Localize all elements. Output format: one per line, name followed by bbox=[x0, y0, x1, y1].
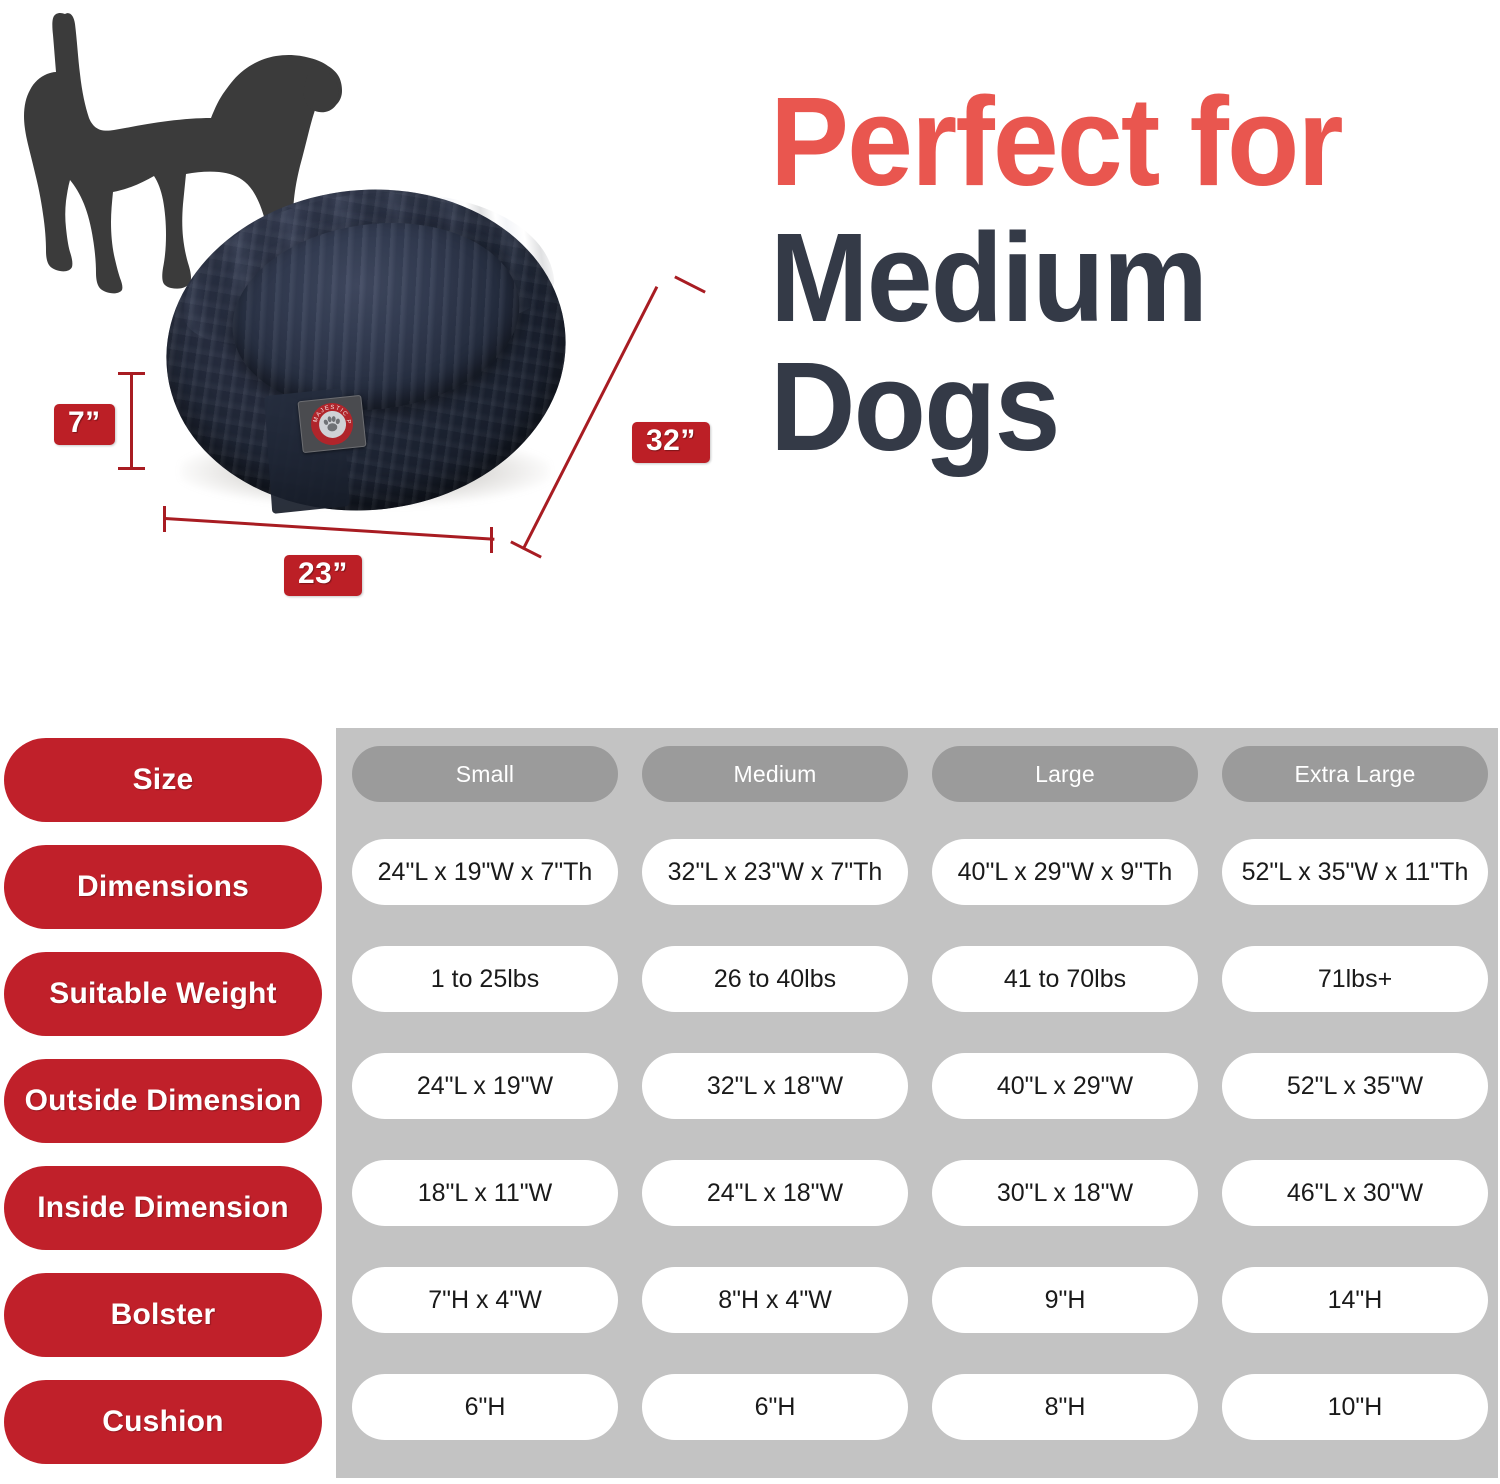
cell-dimensions-medium: 32"L x 23"W x 7"Th bbox=[642, 839, 908, 905]
cell-dimensions-small: 24"L x 19"W x 7"Th bbox=[352, 839, 618, 905]
cell-dimensions-large: 40"L x 29"W x 9"Th bbox=[932, 839, 1198, 905]
row-label-outside-dimension: Outside Dimension bbox=[4, 1059, 322, 1143]
cell-inside-dimension-extra-large: 46"L x 30"W bbox=[1222, 1160, 1488, 1226]
row-label-inside-dimension: Inside Dimension bbox=[4, 1166, 322, 1250]
product-photo-dog-bed: MAJESTIC PET bbox=[160, 180, 570, 535]
column-header-small: Small bbox=[352, 746, 618, 802]
cell-inside-dimension-medium: 24"L x 18"W bbox=[642, 1160, 908, 1226]
cell-bolster-extra-large: 14"H bbox=[1222, 1267, 1488, 1333]
cell-suitable-weight-large: 41 to 70lbs bbox=[932, 946, 1198, 1012]
row-label-size: Size bbox=[4, 738, 322, 822]
row-label-column: SizeDimensionsSuitable WeightOutside Dim… bbox=[4, 728, 324, 1478]
cell-dimensions-extra-large: 52"L x 35"W x 11"Th bbox=[1222, 839, 1488, 905]
hero-section: MAJESTIC PET bbox=[0, 0, 1500, 700]
width-cap-left bbox=[163, 506, 166, 532]
length-badge: 32” bbox=[632, 422, 710, 463]
brand-logo-circle: MAJESTIC PET bbox=[309, 401, 355, 447]
infographic-page: MAJESTIC PET bbox=[0, 0, 1500, 1484]
height-measure-line bbox=[130, 372, 133, 470]
column-header-extra-large: Extra Large bbox=[1222, 746, 1488, 802]
cell-suitable-weight-medium: 26 to 40lbs bbox=[642, 946, 908, 1012]
height-cap-bottom bbox=[118, 467, 145, 470]
brand-logo-text: MAJESTIC PET bbox=[309, 401, 355, 447]
row-label-bolster: Bolster bbox=[4, 1273, 322, 1357]
row-label-cushion: Cushion bbox=[4, 1380, 322, 1464]
cell-inside-dimension-large: 30"L x 18"W bbox=[932, 1160, 1198, 1226]
headline-line-3: Dogs bbox=[770, 347, 1447, 467]
headline-line-2: Medium bbox=[770, 218, 1447, 338]
cell-outside-dimension-extra-large: 52"L x 35"W bbox=[1222, 1053, 1488, 1119]
cell-bolster-small: 7"H x 4"W bbox=[352, 1267, 618, 1333]
svg-text:MAJESTIC PET: MAJESTIC PET bbox=[309, 401, 351, 429]
cell-cushion-extra-large: 10"H bbox=[1222, 1374, 1488, 1440]
column-header-medium: Medium bbox=[642, 746, 908, 802]
specification-table: SizeDimensionsSuitable WeightOutside Dim… bbox=[0, 722, 1500, 1484]
width-cap-right bbox=[490, 527, 493, 553]
length-cap-top bbox=[674, 275, 706, 293]
row-label-suitable-weight: Suitable Weight bbox=[4, 952, 322, 1036]
cell-inside-dimension-small: 18"L x 11"W bbox=[352, 1160, 618, 1226]
column-header-large: Large bbox=[932, 746, 1198, 802]
cell-cushion-large: 8"H bbox=[932, 1374, 1198, 1440]
width-badge: 23” bbox=[284, 555, 362, 596]
headline-line-1: Perfect for bbox=[770, 82, 1447, 202]
headline-block: Perfect for Medium Dogs bbox=[770, 82, 1490, 467]
cell-outside-dimension-small: 24"L x 19"W bbox=[352, 1053, 618, 1119]
cell-outside-dimension-large: 40"L x 29"W bbox=[932, 1053, 1198, 1119]
height-badge: 7” bbox=[54, 404, 115, 445]
cell-suitable-weight-extra-large: 71lbs+ bbox=[1222, 946, 1488, 1012]
cell-suitable-weight-small: 1 to 25lbs bbox=[352, 946, 618, 1012]
cell-cushion-small: 6"H bbox=[352, 1374, 618, 1440]
cell-cushion-medium: 6"H bbox=[642, 1374, 908, 1440]
row-label-dimensions: Dimensions bbox=[4, 845, 322, 929]
cell-bolster-large: 9"H bbox=[932, 1267, 1198, 1333]
height-cap-top bbox=[118, 372, 145, 375]
brand-logo-tag: MAJESTIC PET bbox=[297, 395, 366, 453]
cell-bolster-medium: 8"H x 4"W bbox=[642, 1267, 908, 1333]
cell-outside-dimension-medium: 32"L x 18"W bbox=[642, 1053, 908, 1119]
